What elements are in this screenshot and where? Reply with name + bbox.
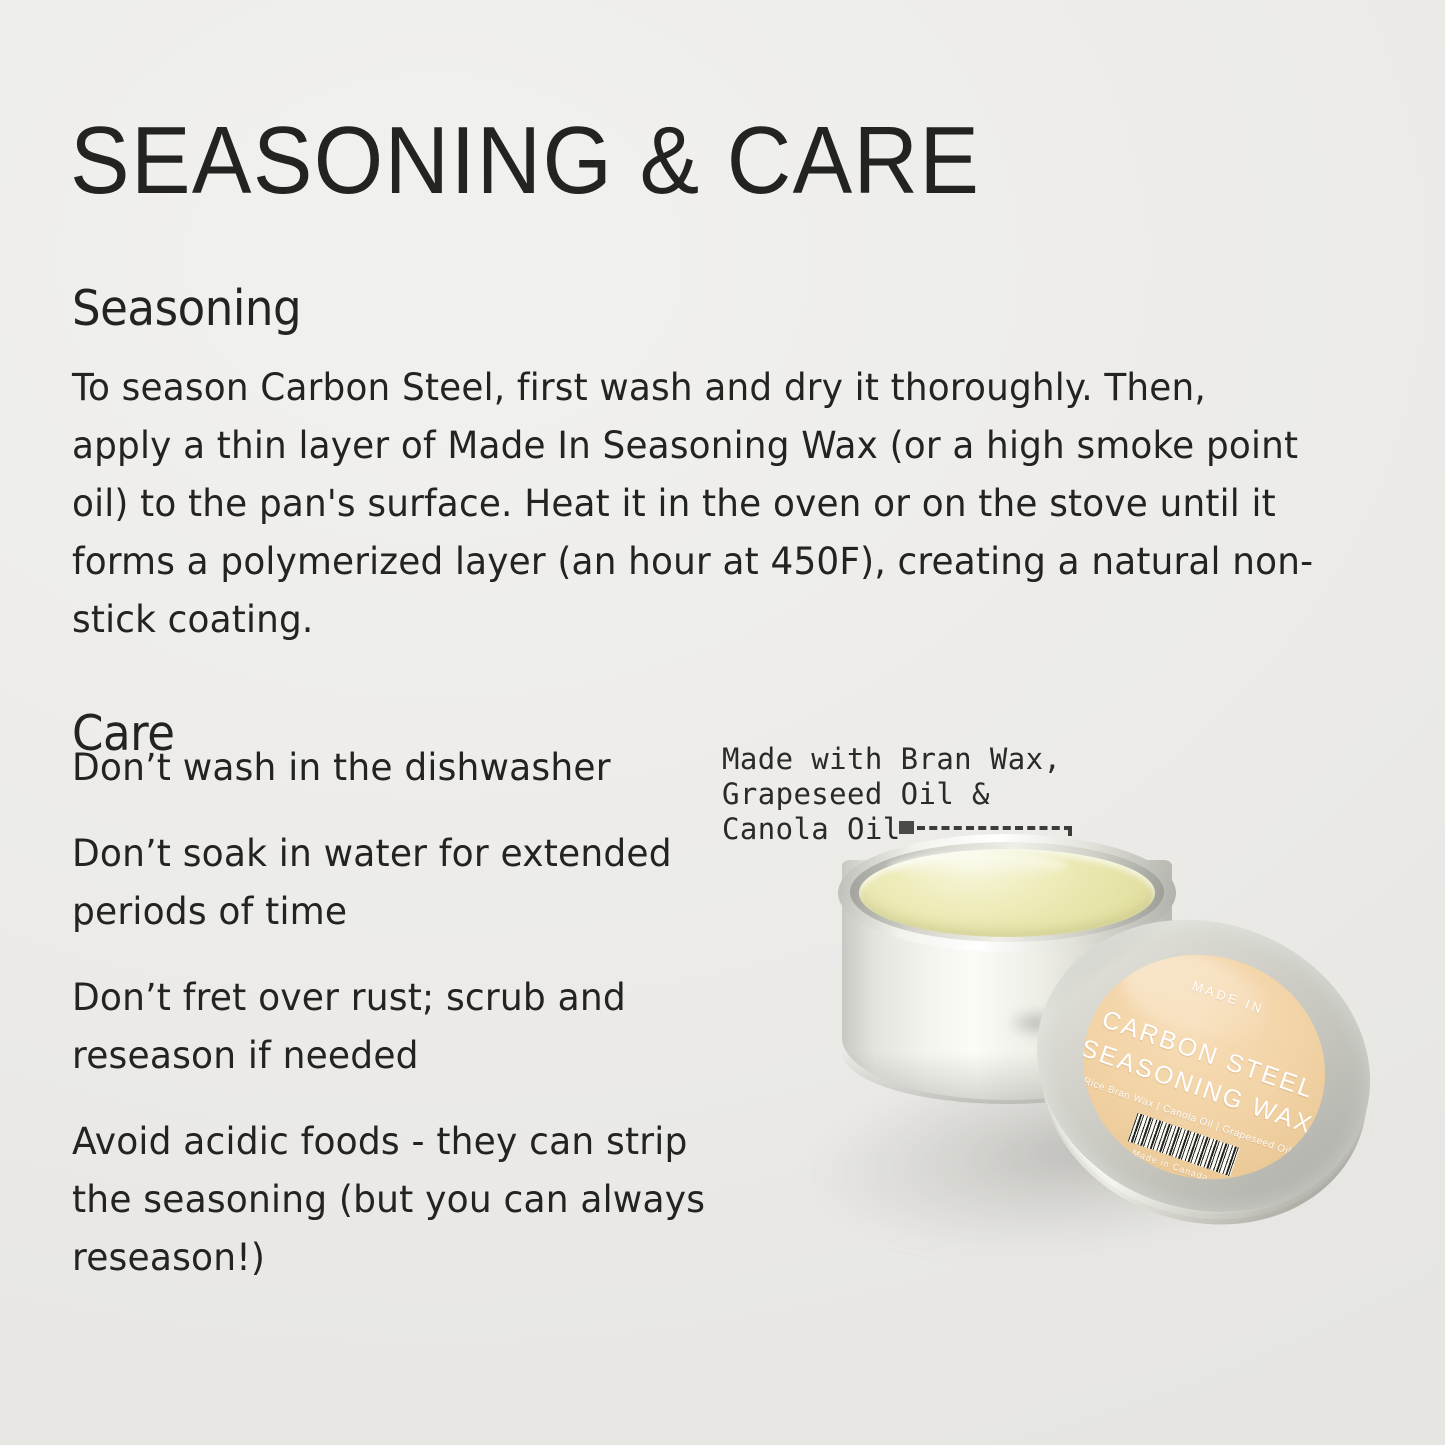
seasoning-wax-tin-image: MADE IN CARBON STEEL SEASONING WAX Rice … <box>760 820 1400 1270</box>
page-title: SEASONING & CARE <box>70 113 980 209</box>
wax-sheen <box>888 853 1068 879</box>
care-list: Don’t wash in the dishwasher Don’t soak … <box>72 738 772 1314</box>
list-item: Don’t wash in the dishwasher <box>72 738 744 796</box>
list-item: Don’t soak in water for extended periods… <box>72 824 744 940</box>
product-label: MADE IN CARBON STEEL SEASONING WAX Rice … <box>1053 922 1356 1211</box>
callout-line: Grapeseed Oil & <box>722 777 1082 812</box>
seasoning-heading: Seasoning <box>72 280 301 337</box>
callout-line: Made with Bran Wax, <box>722 742 1082 777</box>
seasoning-and-care-page: SEASONING & CARE Seasoning To season Car… <box>0 0 1445 1445</box>
list-item: Don’t fret over rust; scrub and reseason… <box>72 968 744 1084</box>
list-item: Avoid acidic foods - they can strip the … <box>72 1112 744 1286</box>
seasoning-body-text: To season Carbon Steel, first wash and d… <box>72 358 1314 648</box>
